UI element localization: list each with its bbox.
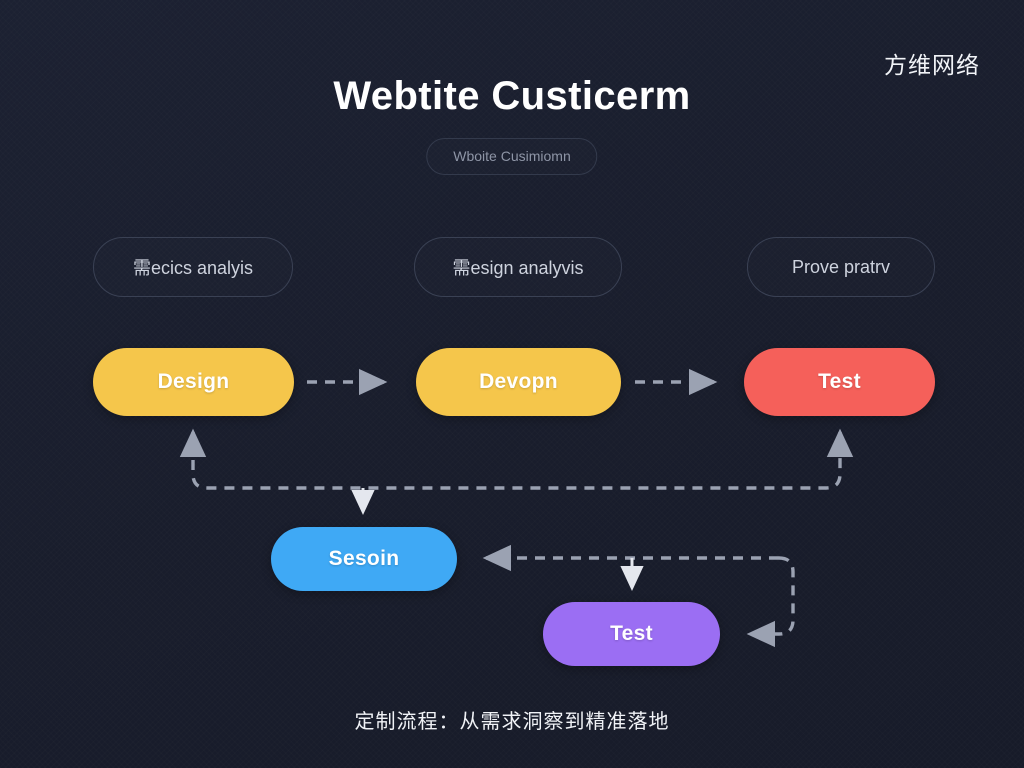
- node-devopn-label: Devopn: [479, 370, 558, 394]
- node-test-red-label: Test: [818, 370, 861, 394]
- diagram-canvas: 方维网络 Webtite Custicerm Wboite Cusimiomn …: [0, 0, 1024, 768]
- stage-pill-1[interactable]: 需ecics analyis: [93, 237, 293, 297]
- node-sesoin[interactable]: Sesoin: [271, 527, 457, 591]
- page-title: Webtite Custicerm: [0, 74, 1024, 119]
- stage-pill-3[interactable]: Prove pratrv: [747, 237, 935, 297]
- connector-feedback-rail: [193, 432, 840, 488]
- node-design[interactable]: Design: [93, 348, 294, 416]
- connector-right-hook-to-test-purple: [750, 558, 793, 634]
- node-sesoin-label: Sesoin: [329, 547, 400, 571]
- node-devopn[interactable]: Devopn: [416, 348, 621, 416]
- node-test-purple[interactable]: Test: [543, 602, 720, 666]
- node-design-label: Design: [158, 370, 230, 394]
- stage-pill-2[interactable]: 需esign analyvis: [414, 237, 622, 297]
- footer-caption: 定制流程：从需求洞察到精准落地: [0, 705, 1024, 734]
- subtitle-pill: Wboite Cusimiomn: [426, 138, 597, 175]
- node-test-purple-label: Test: [610, 622, 653, 646]
- node-test-red[interactable]: Test: [744, 348, 935, 416]
